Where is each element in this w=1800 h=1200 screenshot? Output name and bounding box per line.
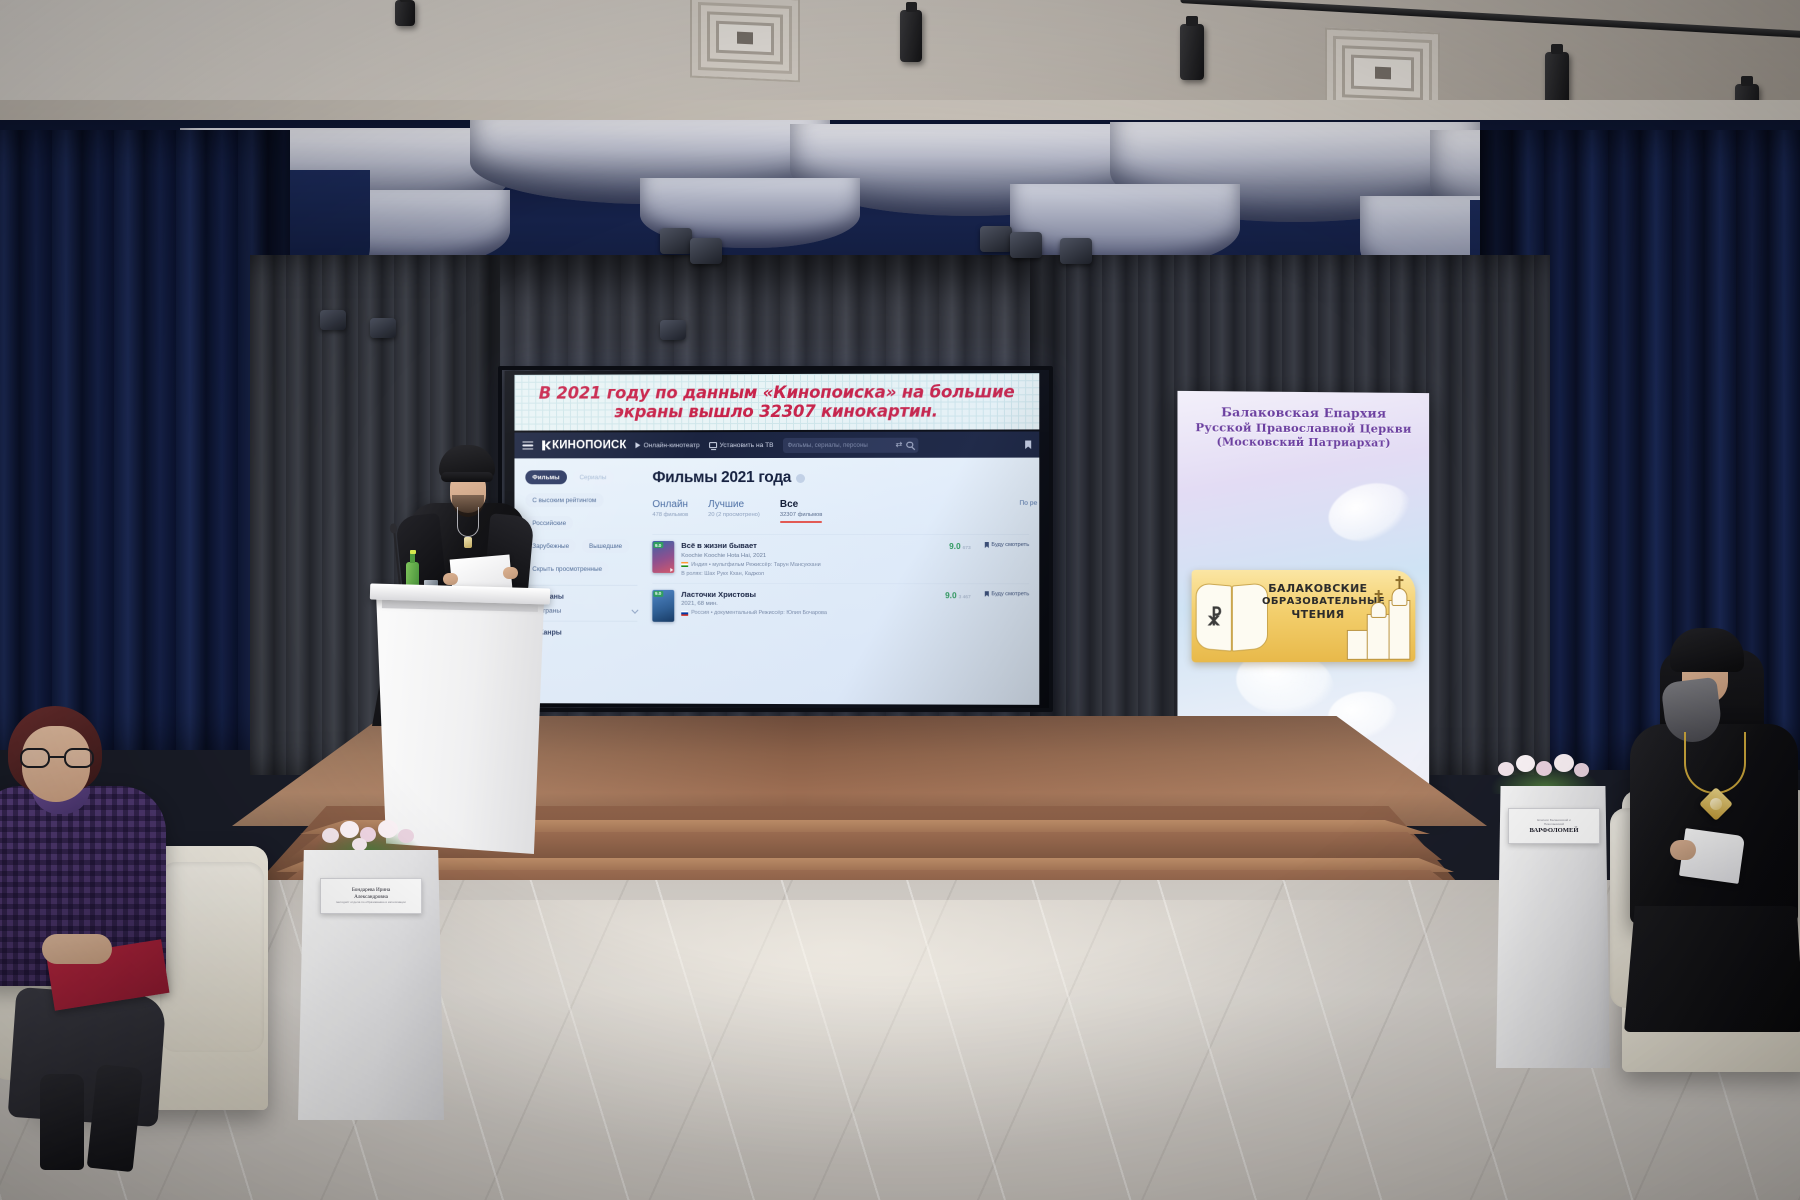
- flower: [398, 829, 414, 843]
- stage-light-fixture: [320, 310, 346, 330]
- movie-original-title: 2021, 68 мин.: [681, 601, 938, 607]
- movie-actions: 9.03 467 Буду смотреть: [945, 590, 1029, 622]
- russia-flag-icon: [681, 610, 688, 615]
- ceiling-spotlight-icon: [1545, 52, 1569, 106]
- movie-rating-value: 9.0: [945, 591, 956, 600]
- skufia-hat: [439, 445, 495, 479]
- filter-chip-row: Скрыть просмотренные: [525, 562, 637, 576]
- nav-online-cinema[interactable]: Онлайн-кинотеатр: [636, 442, 700, 449]
- ceiling-spotlight-icon: [900, 10, 922, 62]
- ceiling-vent-icon: [690, 0, 800, 82]
- bookmark-icon[interactable]: [1025, 440, 1031, 449]
- kinopoisk-mark-icon: [542, 440, 551, 450]
- poster-rating-badge: 9.0: [653, 590, 663, 596]
- nav-install-tv[interactable]: Установить на ТВ: [709, 442, 774, 449]
- glasses-icon: [20, 748, 94, 768]
- flower: [1498, 762, 1514, 776]
- nav-online-cinema-label: Онлайн-кинотеатр: [644, 442, 700, 449]
- search-field[interactable]: Фильмы, сериалы, персоны ⇄: [783, 437, 918, 452]
- movie-row[interactable]: 9.0 Ласточки Христовы 2021, 68 мин. Росс…: [652, 582, 1029, 628]
- flower: [1574, 763, 1589, 777]
- church-icon: [1347, 576, 1412, 660]
- banner-heading: Балаковская Епархия Русской Православной…: [1177, 391, 1429, 451]
- stage-light-fixture: [660, 228, 692, 254]
- stage-light-fixture: [690, 238, 722, 264]
- movie-cast: В ролях: Шах Рукх Кхан, Каджол: [681, 570, 942, 576]
- movie-title[interactable]: Ласточки Христовы: [681, 589, 938, 598]
- bookmark-icon: [985, 591, 989, 597]
- movie-poster[interactable]: 9.0: [652, 589, 674, 621]
- woman-legs: [8, 987, 167, 1127]
- ceiling-spotlight-icon: [1180, 24, 1204, 80]
- tv-icon: [709, 442, 717, 448]
- will-watch-button[interactable]: Буду смотреть: [985, 542, 1029, 548]
- tab-best[interactable]: Лучшие 20 (2 просмотрено): [708, 499, 760, 523]
- stage-light-fixture: [1060, 238, 1092, 264]
- chip-hide-watched[interactable]: Скрыть просмотренные: [525, 562, 609, 576]
- kinopoisk-logo-text: КИНОПОИСК: [552, 439, 627, 451]
- nameplate-left: Бондарева Ирина Александровна методист о…: [320, 878, 422, 914]
- woman-hands: [42, 934, 112, 964]
- filter-icon[interactable]: ⇄: [896, 441, 903, 449]
- play-icon: [636, 442, 641, 448]
- dove-icon: [1322, 475, 1416, 549]
- movie-title[interactable]: Всё в жизни бывает: [681, 541, 942, 550]
- filter-chip-row: Зарубежные Вышедшие: [525, 539, 637, 553]
- slide-headline-line1: В 2021 году по данным «Кинопоиска» на бо…: [539, 382, 1015, 403]
- speaker-hand: [443, 573, 458, 585]
- magnifier-icon[interactable]: [906, 441, 913, 448]
- will-watch-label: Буду смотреть: [991, 542, 1029, 548]
- tab-online-count: 478 фильмов: [652, 512, 688, 518]
- slide-headline: В 2021 году по данным «Кинопоиска» на бо…: [514, 373, 1039, 430]
- woman-boot: [40, 1074, 84, 1170]
- movie-info: Ласточки Христовы 2021, 68 мин. Россия •…: [681, 589, 938, 621]
- bookmark-icon: [985, 542, 989, 548]
- movie-row[interactable]: 9.0 Всё в жизни бывает Koochie Koochie H…: [652, 534, 1029, 583]
- kinopoisk-logo[interactable]: КИНОПОИСК: [542, 439, 626, 451]
- speaker-hand: [503, 567, 518, 579]
- movie-original-title: Koochie Koochie Hota Hai, 2021: [681, 552, 942, 558]
- movie-info: Всё в жизни бывает Koochie Koochie Hota …: [681, 541, 942, 577]
- nameplate-right-line3: ВАРФОЛОМЕЙ: [1530, 827, 1579, 835]
- presentation-slide: В 2021 году по данным «Кинопоиска» на бо…: [505, 369, 1050, 709]
- info-icon[interactable]: [796, 473, 805, 482]
- stage-step-top: [276, 858, 1454, 872]
- ceiling-spotlight-icon: [395, 0, 415, 26]
- movie-votes: 673: [963, 546, 971, 551]
- flower: [1516, 755, 1535, 772]
- tab-online-label: Онлайн: [652, 499, 688, 510]
- page-title-row: Фильмы 2021 года: [652, 469, 1029, 487]
- readings-logo: ☧ БАЛАКОВСКИЕ ОБРАЗОВАТЕЛЬНЫЕ ЧТЕНИЯ: [1192, 570, 1416, 662]
- seated-woman: [0, 700, 228, 1120]
- result-tabs: Онлайн 478 фильмов Лучшие 20 (2 просмотр…: [652, 499, 1029, 523]
- results-main: Фильмы 2021 года Онлайн 478 фильмов Лучш…: [646, 458, 1039, 705]
- movie-meta-text: Индия • мультфильм Режиссёр: Тарун Мансу…: [691, 561, 821, 567]
- slide-headline-line2: экраны вышло 32307 кинокартин.: [539, 401, 1015, 422]
- speaker-arm-left: [395, 513, 447, 595]
- filter-chip-row: Российские: [525, 516, 637, 530]
- will-watch-button[interactable]: Буду смотреть: [985, 591, 1029, 597]
- chip-series[interactable]: Сериалы: [572, 470, 613, 484]
- flower: [322, 828, 339, 843]
- banner-heading-line3: (Московский Патриархат): [1188, 435, 1420, 451]
- nav-install-tv-label: Установить на ТВ: [720, 442, 774, 449]
- klobuk-hat: [1670, 628, 1744, 672]
- kinopoisk-navbar: КИНОПОИСК Онлайн-кинотеатр Установить на…: [514, 431, 1039, 458]
- stage-light-fixture: [980, 226, 1012, 252]
- pectoral-cross-chain: [457, 507, 479, 537]
- tab-online[interactable]: Онлайн 478 фильмов: [652, 499, 688, 523]
- tab-all[interactable]: Все 32307 фильмов: [780, 499, 822, 523]
- seated-bishop: [1608, 628, 1800, 1028]
- flower: [1536, 761, 1552, 776]
- stage-light-fixture: [1010, 232, 1042, 258]
- stage-light-fixture: [370, 318, 396, 338]
- will-watch-label: Буду смотреть: [991, 591, 1029, 597]
- tab-all-label: Все: [780, 499, 822, 510]
- movie-actions: 9.0673 Буду смотреть: [949, 541, 1029, 577]
- banner-heading-line2: Русской Православной Церкви: [1188, 420, 1420, 436]
- banner-heading-line1: Балаковская Епархия: [1188, 404, 1420, 422]
- movie-rating-value: 9.0: [949, 542, 960, 551]
- movie-poster[interactable]: 9.0: [652, 541, 674, 573]
- flower: [1554, 754, 1574, 772]
- flower: [352, 838, 367, 851]
- chip-released[interactable]: Вышедшие: [582, 539, 629, 553]
- play-icon[interactable]: [670, 568, 673, 572]
- pectoral-cross-icon: [464, 537, 472, 548]
- side-curtain-left: [0, 130, 290, 750]
- projection-screen: В 2021 году по данным «Кинопоиска» на бо…: [505, 369, 1050, 709]
- movie-meta: Индия • мультфильм Режиссёр: Тарун Мансу…: [681, 561, 942, 567]
- movie-rating: 9.03 467: [945, 591, 971, 600]
- open-book-icon: ☧: [1196, 584, 1268, 654]
- movie-meta-text: Россия • документальный Режиссёр: Юлия Б…: [691, 610, 827, 616]
- search-placeholder: Фильмы, сериалы, персоны: [788, 441, 892, 448]
- sort-dropdown[interactable]: По ре: [1020, 500, 1038, 507]
- bishop-hand: [1670, 840, 1696, 860]
- filter-chip-row: С высоким рейтингом: [525, 493, 637, 507]
- movie-votes: 3 467: [959, 595, 971, 600]
- india-flag-icon: [681, 562, 688, 567]
- movie-meta: Россия • документальный Режиссёр: Юлия Б…: [681, 610, 938, 616]
- nameplate-left-line3: методист отдела по образованию и катехиз…: [336, 901, 405, 905]
- tab-all-count: 32307 фильмов: [780, 512, 822, 518]
- stage-light-fixture: [660, 320, 686, 340]
- kinopoisk-screenshot: КИНОПОИСК Онлайн-кинотеатр Установить на…: [514, 431, 1039, 704]
- flower: [340, 821, 359, 838]
- flower: [378, 820, 398, 838]
- tab-best-label: Лучшие: [708, 499, 760, 510]
- bishop-lap: [1624, 906, 1800, 1032]
- poster-rating-badge: 9.0: [653, 542, 663, 548]
- movie-list: 9.0 Всё в жизни бывает Koochie Koochie H…: [652, 534, 1029, 628]
- conference-hall-scene: В 2021 году по данным «Кинопоиска» на бо…: [0, 0, 1800, 1200]
- tab-best-count: 20 (2 просмотрено): [708, 512, 760, 518]
- chip-high-rating[interactable]: С высоким рейтингом: [525, 493, 603, 507]
- type-chip-row: Фильмы Сериалы: [525, 470, 637, 484]
- kinopoisk-body: Фильмы Сериалы С высоким рейтингом Росси…: [514, 458, 1039, 705]
- panagia-chain: [1684, 732, 1746, 794]
- chevron-down-icon: [631, 607, 638, 614]
- nameplate-right: Епископ Балаковский и Николаевский ВАРФО…: [1508, 808, 1600, 844]
- chi-rho-icon: ☧: [1207, 606, 1223, 630]
- page-title: Фильмы 2021 года: [652, 469, 791, 487]
- movie-rating: 9.0673: [949, 542, 971, 551]
